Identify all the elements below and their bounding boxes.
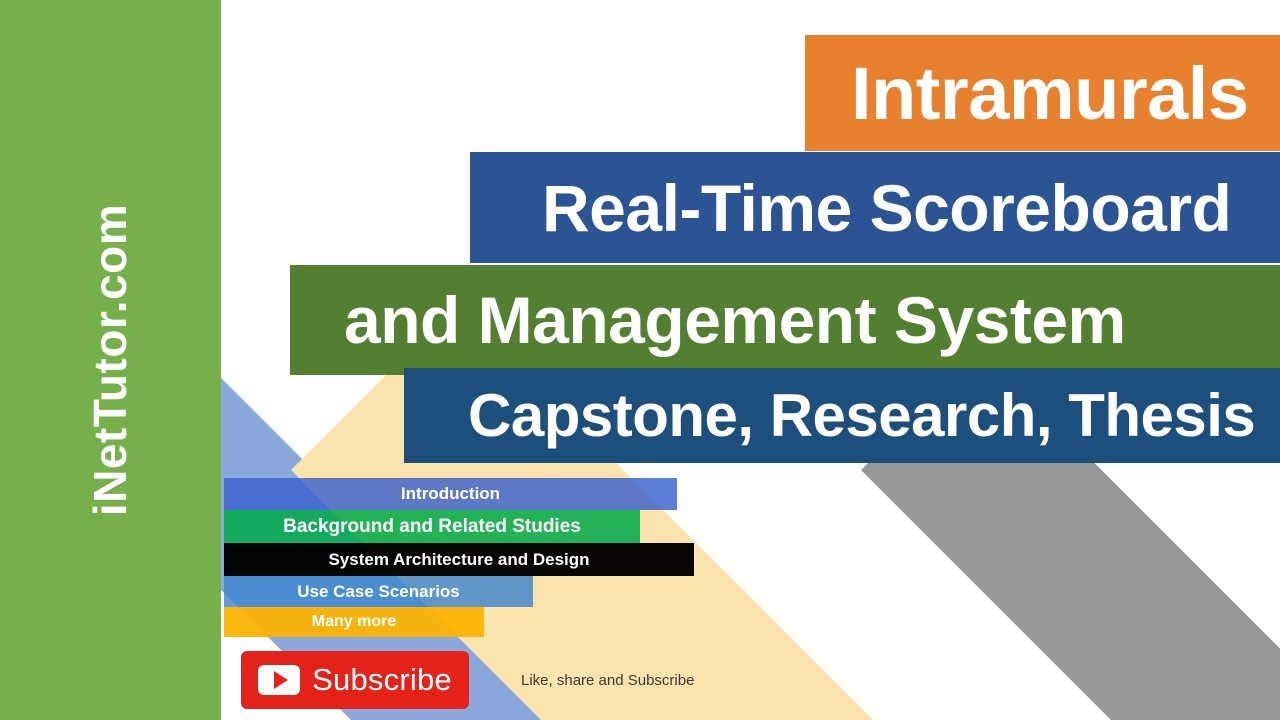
brand-sidebar: iNetTutor.com (0, 0, 221, 720)
title-bar-intramurals-text: Intramurals (805, 51, 1249, 136)
topic-bar-introduction: Introduction (224, 478, 677, 510)
subscribe-note: Like, share and Subscribe (521, 672, 694, 689)
subscribe-button[interactable]: Subscribe (241, 651, 469, 709)
topic-bar-many-more: Many more (224, 607, 484, 637)
topic-bar-background-label: Background and Related Studies (283, 516, 581, 538)
topic-bar-use-case: Use Case Scenarios (224, 576, 533, 607)
thumbnail-canvas: iNetTutor.com Intramurals Real-Time Scor… (0, 0, 1280, 720)
brand-sidebar-label-wrap: iNetTutor.com (0, 0, 221, 720)
title-bar-intramurals: Intramurals (805, 35, 1280, 151)
subscribe-button-label: Subscribe (312, 662, 452, 698)
subscribe-row: Subscribe Like, share and Subscribe (241, 651, 694, 709)
topic-bar-introduction-label: Introduction (401, 484, 500, 504)
play-triangle-icon (274, 671, 288, 689)
topic-bar-use-case-label: Use Case Scenarios (297, 582, 460, 602)
topic-bar-architecture: System Architecture and Design (224, 543, 694, 576)
topic-bar-background: Background and Related Studies (224, 510, 640, 543)
youtube-play-icon (258, 665, 300, 695)
brand-sidebar-label: iNetTutor.com (84, 204, 138, 516)
title-bar-capstone: Capstone, Research, Thesis (404, 368, 1280, 463)
topic-bar-architecture-label: System Architecture and Design (328, 550, 589, 570)
title-bar-management: and Management System (290, 265, 1280, 375)
title-bar-capstone-text: Capstone, Research, Thesis (404, 381, 1255, 450)
title-bar-scoreboard: Real-Time Scoreboard (470, 152, 1280, 263)
title-bar-scoreboard-text: Real-Time Scoreboard (470, 170, 1231, 246)
title-bar-management-text: and Management System (290, 282, 1126, 358)
topic-bar-many-more-label: Many more (312, 613, 396, 631)
